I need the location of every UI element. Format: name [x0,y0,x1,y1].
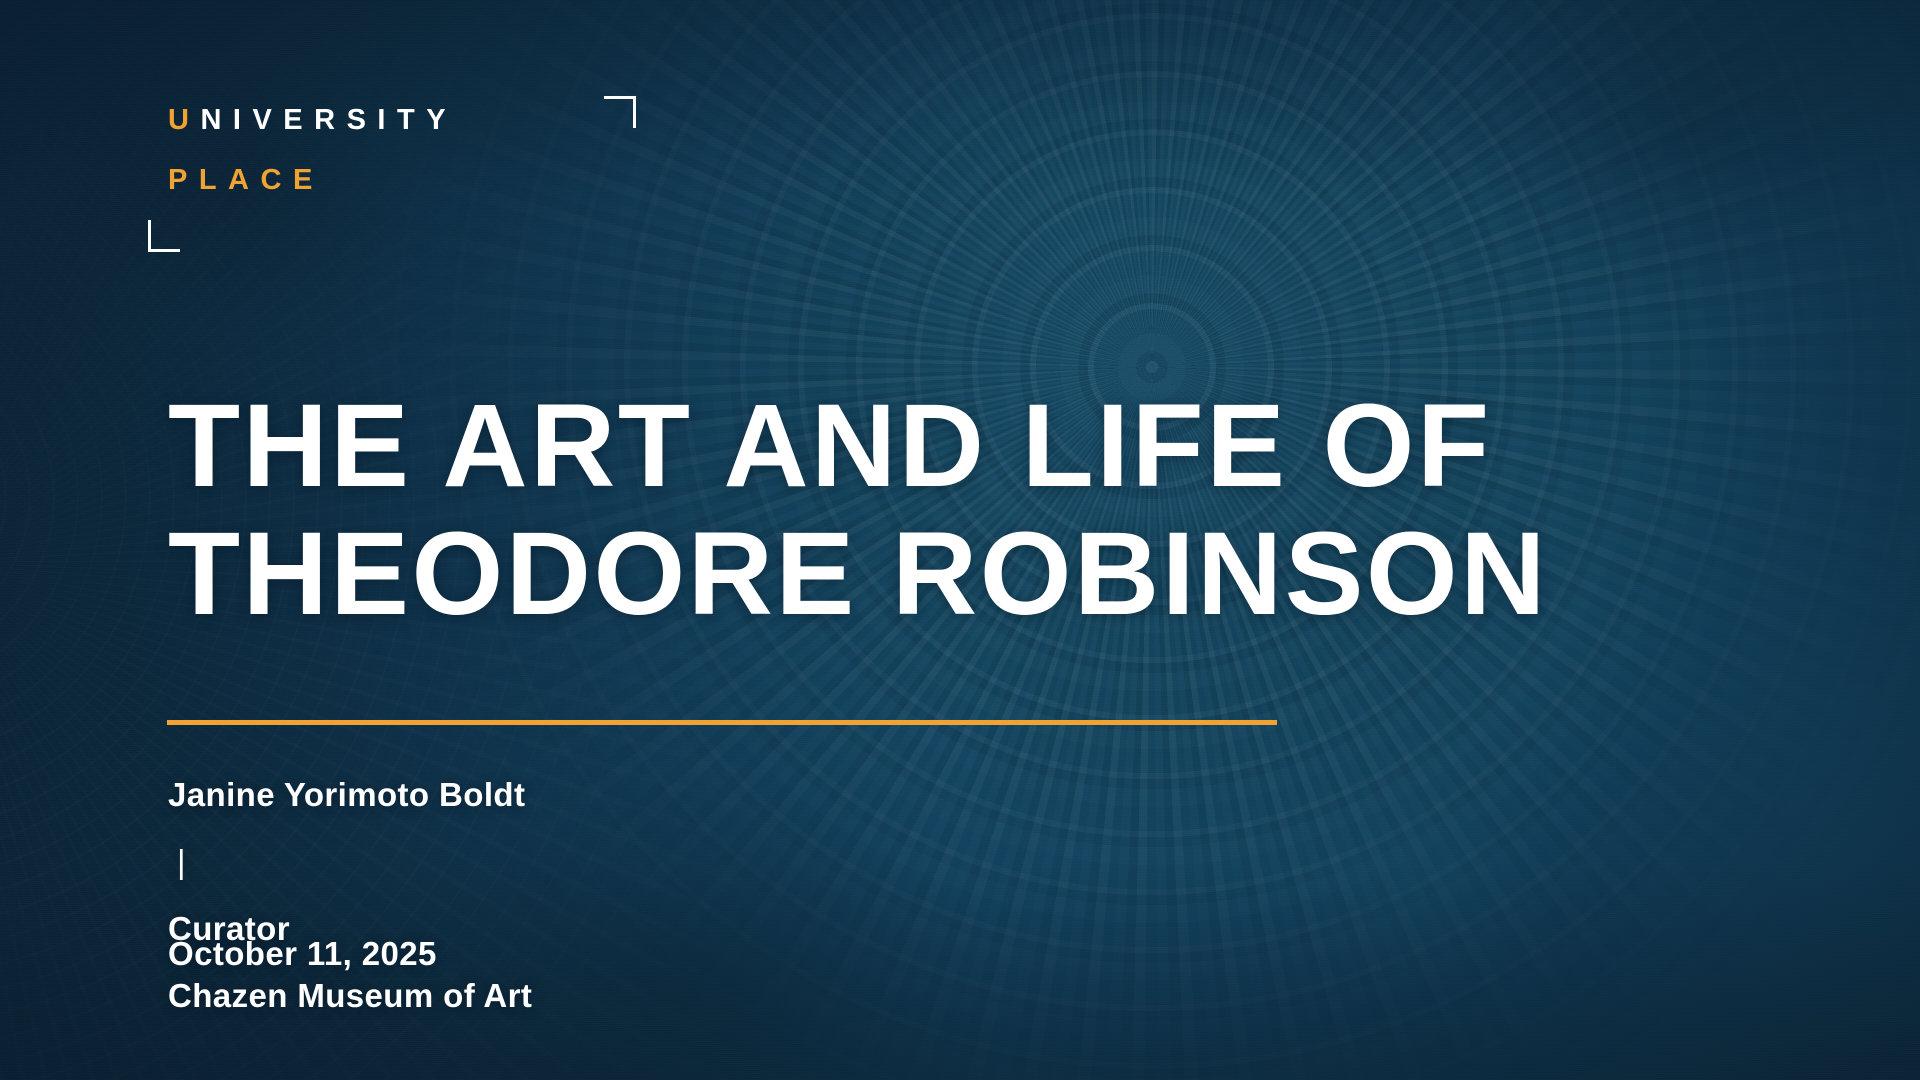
title-slide: UNIVERSITY PLACE THE ART AND LIFE OF THE… [0,0,1920,1080]
title-line-1: THE ART AND LIFE OF [168,382,1628,510]
logo-line-place: PLACE [168,164,324,197]
logo-line-university-rest: NIVERSITY [200,104,457,136]
presenter-separator: | [168,843,195,880]
presentation-date: October 11, 2025 [168,935,437,973]
title-line-2: THEODORE ROBINSON [168,510,1628,638]
logo-lead-letter: U [168,104,200,136]
presenter-block: Janine Yorimoto Boldt|Curator Chazen Mus… [168,761,532,1029]
page-title: THE ART AND LIFE OF THEODORE ROBINSON [168,382,1628,638]
corner-bracket-bottom-left-icon [148,220,180,252]
presenter-name-and-role: Janine Yorimoto Boldt|Curator [168,761,532,962]
corner-bracket-top-right-icon [604,96,636,128]
slide-content: UNIVERSITY PLACE THE ART AND LIFE OF THE… [0,0,1920,1080]
logo-line-university: UNIVERSITY [168,104,457,137]
presenter-name: Janine Yorimoto Boldt [168,761,532,828]
university-place-logo[interactable]: UNIVERSITY PLACE [168,96,608,242]
orange-accent-rule [167,720,1277,725]
